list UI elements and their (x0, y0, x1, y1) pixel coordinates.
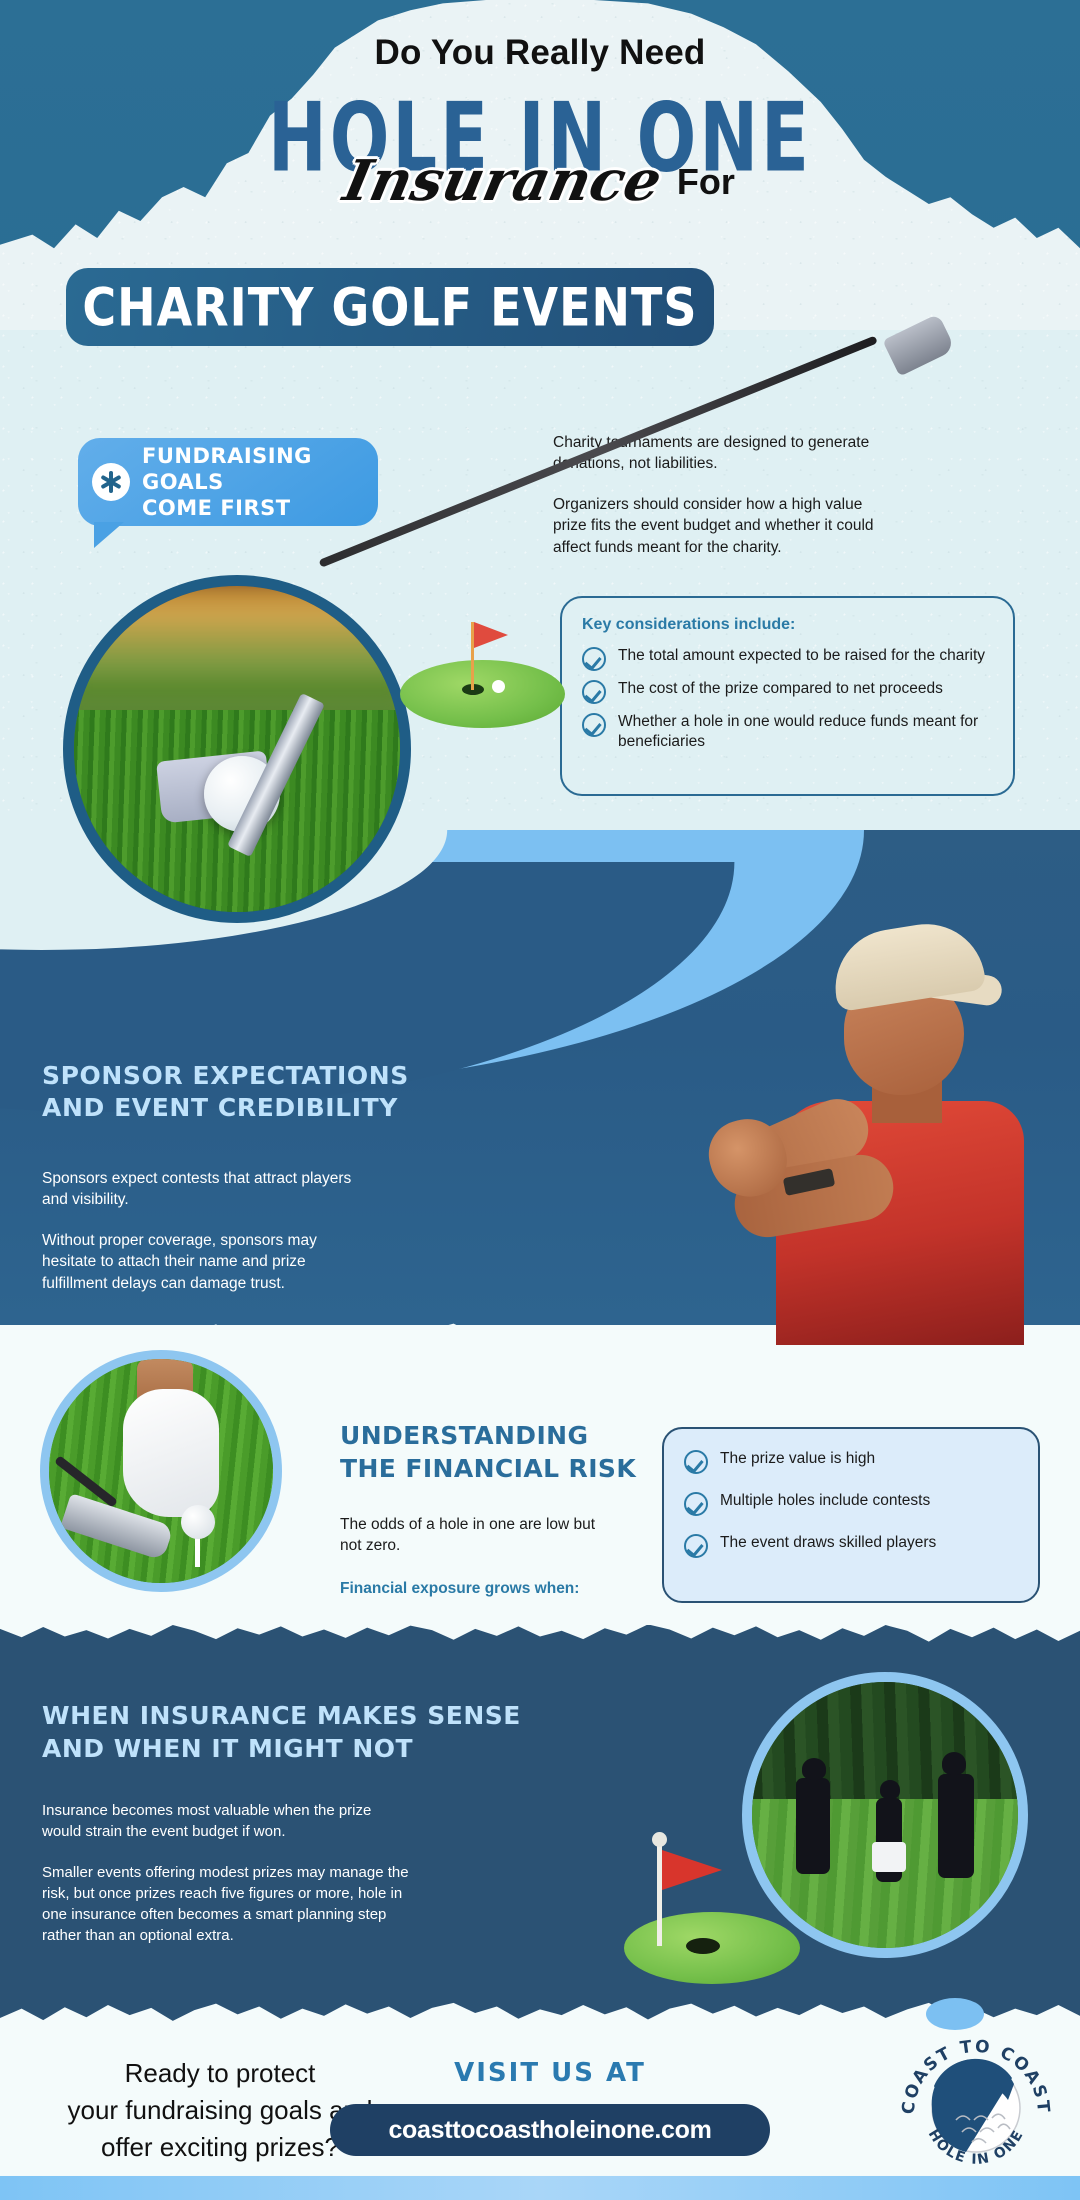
risk-item-text: The prize value is high (720, 1449, 875, 1469)
header-banner: CHARITY GOLF EVENTS (66, 268, 714, 346)
check-icon (582, 713, 606, 737)
section2-title-line-2: AND EVENT CREDIBILITY (42, 1092, 462, 1124)
list-item: The total amount expected to be raised f… (582, 646, 993, 670)
badge-line-2: COME FIRST (142, 495, 364, 521)
senior-golfer-photo (704, 905, 1024, 1345)
footer-accent-strip (0, 2176, 1080, 2200)
golf-ball-club-photo (63, 575, 411, 923)
visit-us-label: VISIT US AT (400, 2058, 700, 2088)
hole-flag-graphic (624, 1840, 804, 2000)
header-for-word: For (677, 161, 735, 202)
key-consideration-text: The cost of the prize compared to net pr… (618, 679, 943, 699)
section2-title-line-1: SPONSOR EXPECTATIONS (42, 1060, 462, 1092)
cta-line-1: Ready to protect (50, 2055, 390, 2092)
section4-title-line-1: WHEN INSURANCE MAKES SENSE (42, 1700, 522, 1733)
list-item: The cost of the prize compared to net pr… (582, 679, 993, 703)
header-script-word: Insurance (338, 148, 667, 214)
section3-lead-in: Financial exposure grows when: (340, 1580, 680, 1598)
section3-title-line-2: THE FINANCIAL RISK (340, 1453, 680, 1486)
check-icon (684, 1534, 708, 1558)
key-considerations-box: Key considerations include: The total am… (560, 596, 1015, 796)
asterisk-icon (92, 463, 130, 501)
check-icon (684, 1450, 708, 1474)
list-item: Multiple holes include contests (684, 1491, 1020, 1515)
glove-tee-photo (40, 1350, 282, 1592)
check-icon (582, 647, 606, 671)
check-icon (582, 680, 606, 704)
section4-paragraph-1: Insurance becomes most valuable when the… (42, 1800, 410, 1842)
section3-paragraph: The odds of a hole in one are low but no… (340, 1515, 620, 1557)
risk-item-text: Multiple holes include contests (720, 1491, 930, 1511)
list-item: Whether a hole in one would reduce funds… (582, 712, 993, 752)
section4-title: WHEN INSURANCE MAKES SENSE AND WHEN IT M… (42, 1700, 522, 1765)
section3-title-line-1: UNDERSTANDING (340, 1420, 680, 1453)
section4-paragraph-2: Smaller events offering modest prizes ma… (42, 1862, 412, 1946)
check-icon (684, 1492, 708, 1516)
header-eyebrow: Do You Really Need (0, 33, 1080, 73)
infographic-page: Do You Really Need HOLE IN ONE Insurance… (0, 0, 1080, 2200)
financial-exposure-box: The prize value is high Multiple holes i… (662, 1427, 1040, 1603)
section4-title-line-2: AND WHEN IT MIGHT NOT (42, 1733, 522, 1766)
key-consideration-text: Whether a hole in one would reduce funds… (618, 712, 993, 752)
putting-green-flag-graphic (400, 600, 570, 740)
key-considerations-title: Key considerations include: (582, 616, 993, 634)
header-script-row: Insurance For (0, 148, 1080, 214)
section3-title: UNDERSTANDING THE FINANCIAL RISK (340, 1420, 680, 1485)
section2-paragraph-2: Without proper coverage, sponsors may he… (42, 1230, 372, 1294)
section1-paragraph-2: Organizers should consider how a high va… (553, 494, 898, 558)
website-url-text: coasttocoastholeinone.com (388, 2116, 711, 2145)
list-item: The prize value is high (684, 1449, 1020, 1473)
list-item: The event draws skilled players (684, 1533, 1020, 1557)
badge-line-1: FUNDRAISING GOALS (142, 443, 364, 496)
section2-title: SPONSOR EXPECTATIONS AND EVENT CREDIBILI… (42, 1060, 462, 1124)
risk-item-text: The event draws skilled players (720, 1533, 936, 1553)
fundraising-badge-title: FUNDRAISING GOALS COME FIRST (142, 443, 364, 522)
key-consideration-text: The total amount expected to be raised f… (618, 646, 985, 666)
section2-paragraph-1: Sponsors expect contests that attract pl… (42, 1168, 352, 1211)
header-banner-text: CHARITY GOLF EVENTS (82, 276, 697, 338)
coast-to-coast-logo: COAST TO COAST HOLE IN ONE (896, 2026, 1056, 2176)
website-url-button[interactable]: coasttocoastholeinone.com (330, 2104, 770, 2156)
fundraising-badge: FUNDRAISING GOALS COME FIRST (78, 438, 378, 526)
